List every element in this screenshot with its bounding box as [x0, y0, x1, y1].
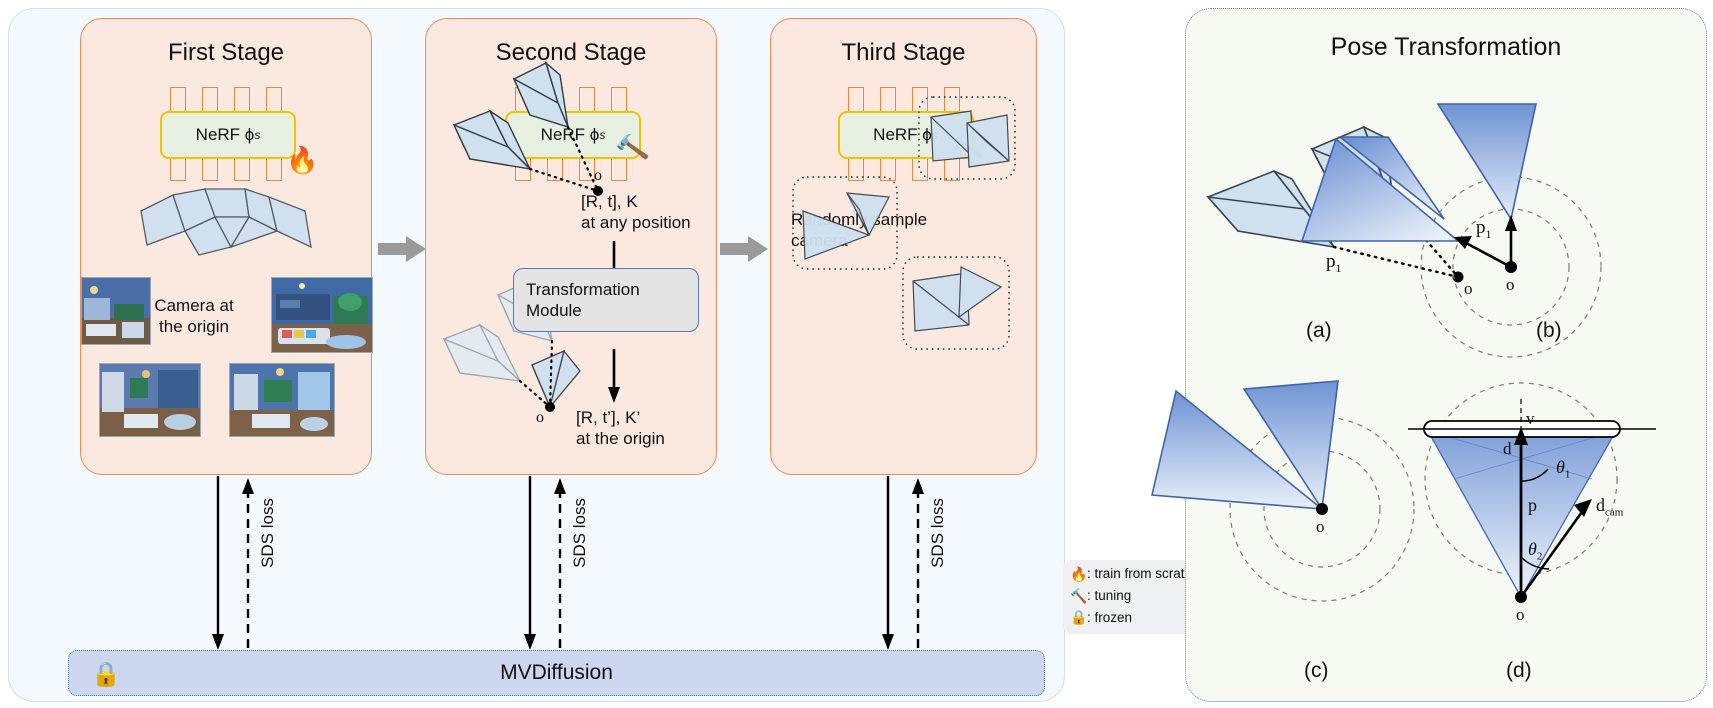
stage-title-third: Third Stage	[771, 39, 1036, 67]
stage-title-second: Second Stage	[426, 39, 716, 67]
subfigure-c-graphic	[1186, 9, 1706, 701]
mvdiffusion-block[interactable]: 🔒 MVDiffusion	[68, 650, 1045, 696]
output-pose-line1: [R, t’], K’	[576, 407, 665, 428]
stage-card-first: First Stage NeRF ϕs 🔥	[80, 18, 372, 475]
nerf-block-third: NeRF ϕs	[824, 87, 984, 179]
stage-transition-arrow-2	[720, 236, 768, 262]
legend-item-train-from-scratch: 🔥 : train from scratch	[1070, 564, 1204, 586]
origin-label-upper: o	[594, 167, 602, 185]
stage1-caption-line1: Camera at	[129, 295, 259, 316]
p-label: p	[1528, 495, 1537, 516]
theta1-symbol: θ	[1556, 457, 1565, 477]
pose-transformation-panel: Pose Transformation p1 p2 o (a)	[1185, 8, 1707, 702]
input-pose-text: [R, t], K at any position	[581, 191, 691, 234]
point-label-sub: 1	[1486, 227, 1492, 241]
dcam-label: dcam	[1596, 495, 1623, 519]
stage3-caption-line1: Randomly sample	[791, 209, 927, 230]
stage-title-first: First Stage	[81, 39, 371, 67]
point-label-sub: 1	[1336, 261, 1342, 275]
point-label-text: p	[1401, 191, 1411, 212]
theta2-sub: 2	[1537, 551, 1543, 563]
theta2-symbol: θ	[1528, 539, 1537, 559]
subfigure-b-graphic	[1186, 9, 1706, 701]
sds-loss-text: SDS loss	[570, 498, 590, 568]
mvdiffusion-label: MVDiffusion	[69, 651, 1044, 695]
sds-loss-label-third: SDS loss	[928, 498, 948, 573]
rendered-view-thumbnail	[99, 363, 201, 437]
origin-label-c: o	[1316, 517, 1325, 537]
stage-card-second: Second Stage NeRF ϕs 🔨	[425, 18, 717, 475]
point-label-text: p	[1326, 251, 1336, 272]
origin-label-d: o	[1516, 605, 1525, 625]
stage1-caption: Camera at the origin	[129, 295, 259, 338]
point-label-p1-b: p1	[1476, 217, 1492, 242]
legend-item-label: : tuning	[1087, 586, 1131, 607]
sds-loss-label-first: SDS loss	[258, 498, 278, 573]
sds-loss-text: SDS loss	[928, 498, 948, 568]
nerf-label-subscript: s	[932, 128, 938, 142]
nerf-label-text: NeRF ϕ	[873, 125, 932, 145]
dcam-sub: cam	[1605, 507, 1623, 519]
output-pose-text: [R, t’], K’ at the origin	[576, 407, 665, 450]
legend-item-frozen: 🔒 : frozen	[1070, 607, 1204, 629]
subfigure-label-b: (b)	[1536, 319, 1562, 343]
stage-card-third: Third Stage NeRF ϕs 🔨 Randomly sample ca…	[770, 18, 1037, 475]
theta1-label: θ1	[1556, 457, 1570, 481]
origin-label-b: o	[1506, 275, 1515, 295]
point-label-p1-a: p1	[1326, 251, 1342, 276]
fire-icon: 🔥	[286, 147, 318, 173]
d-label: d	[1503, 439, 1512, 459]
subfigure-label-c: (c)	[1304, 659, 1329, 683]
transformation-module-line1: Transformation	[526, 279, 640, 300]
fire-icon: 🔥	[1070, 564, 1087, 586]
stage1-caption-line2: the origin	[129, 316, 259, 337]
hammer-icon: 🔨	[1070, 586, 1087, 608]
nerf-block-first: NeRF ϕs	[146, 87, 306, 179]
hammer-icon: 🔨	[614, 132, 651, 164]
stage-transition-arrow-1	[378, 236, 426, 262]
rendered-view-thumbnail	[229, 363, 335, 437]
theta2-label: θ2	[1528, 539, 1542, 563]
hammer-icon: 🔨	[949, 132, 986, 164]
legend-item-tuning: 🔨 : tuning	[1070, 586, 1204, 608]
transformation-module-line2: Module	[526, 300, 640, 321]
input-pose-line2: at any position	[581, 212, 691, 233]
figure-root: First Stage NeRF ϕs 🔥	[0, 0, 1713, 708]
dcam-symbol: d	[1596, 495, 1605, 515]
origin-label-a: o	[1464, 279, 1473, 299]
origin-label-lower: o	[536, 409, 544, 427]
subfigure-a-graphic	[1186, 9, 1706, 701]
nerf-label-text: NeRF ϕ	[196, 125, 255, 145]
legend-item-label: : train from scratch	[1087, 564, 1199, 585]
output-pose-line2: at the origin	[576, 428, 665, 449]
nerf-label-box: NeRF ϕs	[160, 111, 296, 159]
nerf-label-subscript: s	[599, 128, 605, 142]
nerf-label-subscript: s	[254, 128, 260, 142]
subfigure-d-graphic	[1186, 9, 1706, 701]
stage3-caption-line2: camera	[791, 230, 927, 251]
lock-icon: 🔒	[1070, 607, 1087, 629]
nerf-label-text: NeRF ϕ	[541, 125, 600, 145]
stage3-caption: Randomly sample camera	[791, 209, 927, 252]
input-pose-line1: [R, t], K	[581, 191, 691, 212]
v-axis-label: v	[1526, 409, 1535, 429]
subfigure-label-a: (a)	[1306, 319, 1332, 343]
legend-item-label: : frozen	[1087, 608, 1132, 629]
point-label-sub: 2	[1411, 201, 1417, 215]
pose-transformation-title: Pose Transformation	[1186, 33, 1706, 62]
point-label-text: p	[1476, 217, 1486, 238]
point-label-p2-a: p2	[1401, 191, 1417, 216]
rendered-view-thumbnail	[271, 277, 373, 353]
subfigure-label-d: (d)	[1506, 659, 1532, 683]
transformation-module[interactable]: Transformation Module	[513, 268, 699, 332]
theta1-sub: 1	[1565, 469, 1571, 481]
sds-loss-text: SDS loss	[258, 498, 278, 568]
sds-loss-label-second: SDS loss	[570, 498, 590, 573]
